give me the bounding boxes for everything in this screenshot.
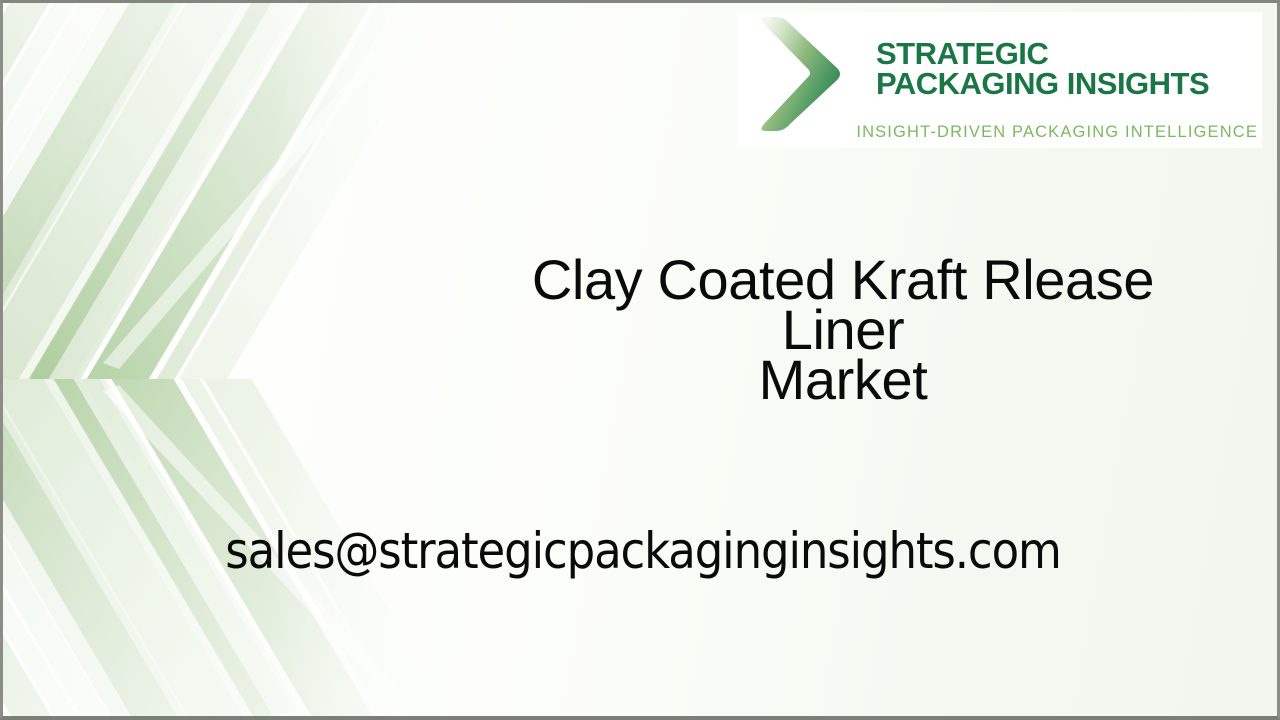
title-line-3: Market	[383, 355, 1280, 405]
page-title: Clay Coated Kraft Rlease Liner Market	[383, 255, 1280, 405]
presentation-slide: STRATEGIC PACKAGING INSIGHTS INSIGHT-DRI…	[0, 0, 1280, 720]
chevron-right-icon	[752, 11, 872, 131]
contact-email[interactable]: sales@strategicpackaginginsights.com	[225, 522, 1060, 580]
logo-top-row: STRATEGIC PACKAGING INSIGHTS	[738, 21, 1262, 117]
logo-tagline: INSIGHT-DRIVEN PACKAGING INTELLIGENCE	[738, 123, 1262, 142]
chevron-stripe-pattern-icon	[3, 3, 433, 717]
logo-name-line-1: STRATEGIC	[876, 39, 1209, 68]
company-logo: STRATEGIC PACKAGING INSIGHTS INSIGHT-DRI…	[738, 12, 1262, 148]
contact-email-block: sales@strategicpackaginginsights.com	[3, 521, 1280, 581]
logo-name-line-2: PACKAGING INSIGHTS	[876, 69, 1209, 98]
logo-wordmark: STRATEGIC PACKAGING INSIGHTS	[876, 39, 1209, 98]
